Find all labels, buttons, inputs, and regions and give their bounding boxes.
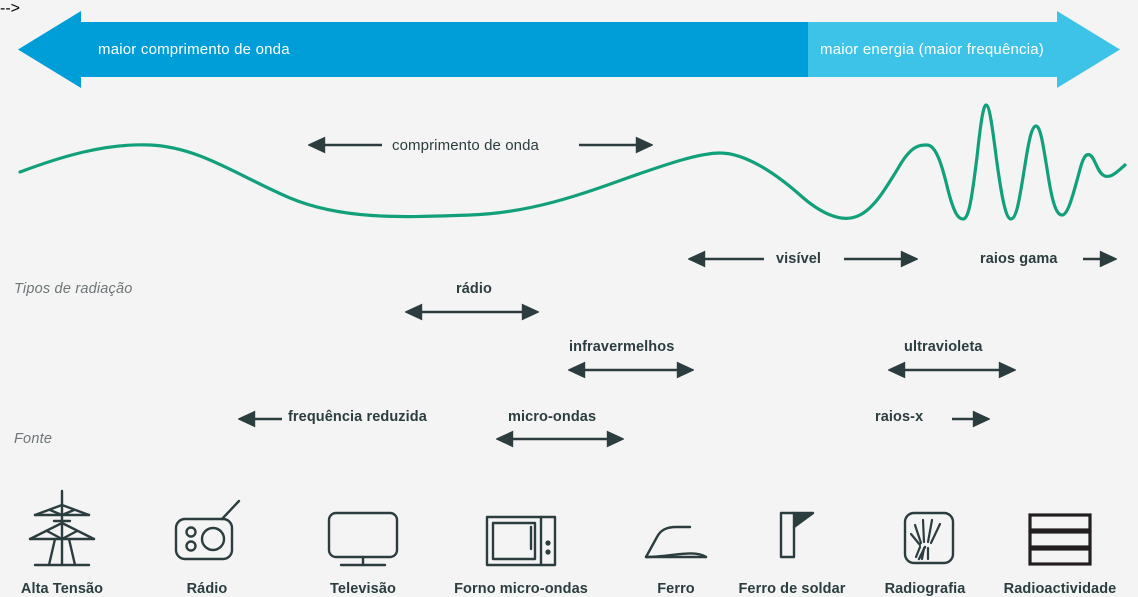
section-label-source: Fonte [14, 431, 52, 447]
band-label-micro-ondas: micro-ondas [508, 409, 596, 425]
band-label-raios-x: raios-x [875, 409, 923, 425]
source-item-televisao[interactable]: Televisão [273, 487, 453, 597]
band-arrow-radio [405, 301, 539, 323]
banner-label-higher-energy: maior energia (maior frequência) [820, 41, 1044, 58]
source-label-radio: Rádio [117, 581, 297, 597]
radio-icon [117, 487, 297, 573]
section-label-radiation-types: Tipos de radiação [14, 281, 133, 297]
band-arrow-infravermelhos [568, 359, 694, 381]
microwave-oven-icon [431, 487, 611, 573]
wavelength-caption-label: comprimento de onda [392, 137, 539, 154]
source-label-televisao: Televisão [273, 581, 453, 597]
electromagnetic-wave-curve [0, 95, 1138, 235]
band-label-ultravioleta: ultravioleta [904, 339, 983, 355]
band-label-infravermelhos: infravermelhos [569, 339, 674, 355]
band-arrow-raios-gama [1053, 248, 1117, 270]
band-label-frequencia-reduzida: frequência reduzida [288, 409, 427, 425]
band-arrow-micro-ondas [496, 428, 624, 450]
source-item-radio[interactable]: Rádio [117, 487, 297, 597]
electromagnetic-spectrum-diagram: maior comprimento de onda maior energia … [0, 0, 1138, 597]
source-item-forno-micro-ondas[interactable]: Forno micro-ondas [431, 487, 611, 597]
spectrum-banner: maior comprimento de onda maior energia … [0, 0, 1138, 100]
band-arrow-frequencia-reduzida [238, 408, 294, 430]
band-label-radio: rádio [456, 281, 492, 297]
source-item-radioactividade[interactable]: Radioactividade [970, 487, 1138, 597]
radioactivity-bars-icon [970, 487, 1138, 573]
banner-label-longer-wavelength: maior comprimento de onda [98, 41, 290, 58]
source-label-forno-micro-ondas: Forno micro-ondas [431, 581, 611, 597]
band-arrow-ultravioleta [888, 359, 1016, 381]
source-label-radioactividade: Radioactividade [970, 581, 1138, 597]
band-label-raios-gama: raios gama [980, 251, 1058, 267]
band-label-visivel: visível [776, 251, 821, 267]
band-arrow-raios-x [930, 408, 990, 430]
television-icon [273, 487, 453, 573]
